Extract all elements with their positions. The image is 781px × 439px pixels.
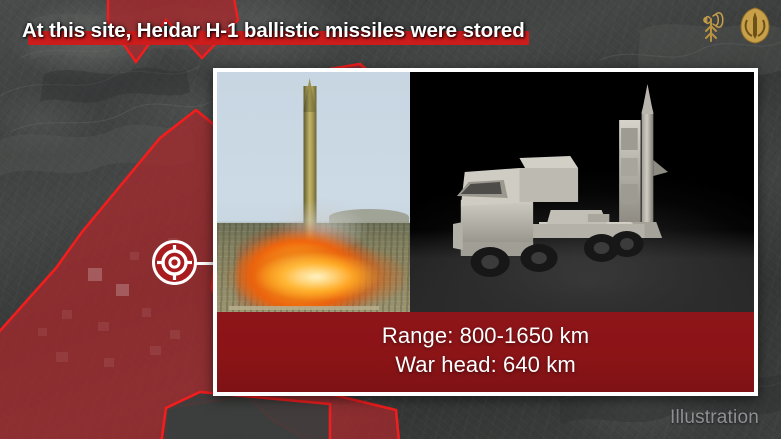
- launch-flame-glow: [221, 240, 406, 307]
- spec-warhead-line: War head: 640 km: [395, 352, 576, 378]
- broadcast-graphic-slide: At this site, Heidar H-1 ballistic missi…: [0, 0, 781, 439]
- missile-spec-panel: Range: 800-1650 km War head: 640 km: [217, 312, 754, 392]
- idf-sword-olive-branch-emblem: [738, 6, 772, 44]
- card-photo-strip: [217, 72, 754, 312]
- emblem-group: [695, 6, 772, 44]
- headline-text: At this site, Heidar H-1 ballistic missi…: [22, 19, 525, 43]
- missile-info-card: Range: 800-1650 km War head: 640 km: [213, 68, 758, 396]
- launch-pad: [229, 306, 380, 310]
- spec-range-line: Range: 800-1650 km: [382, 323, 589, 349]
- missile-tel-render-photo: [410, 72, 754, 312]
- target-crosshair-marker[interactable]: [152, 240, 197, 285]
- headline: At this site, Heidar H-1 ballistic missi…: [22, 14, 525, 48]
- tel-truck-illustration: [410, 72, 754, 312]
- illustration-credit: Illustration: [670, 407, 759, 429]
- missile-launch-photo: [217, 72, 410, 312]
- idf-spokesperson-antenna-emblem: [695, 6, 729, 44]
- erected-missile: [613, 84, 668, 238]
- tel-truck: [453, 156, 645, 277]
